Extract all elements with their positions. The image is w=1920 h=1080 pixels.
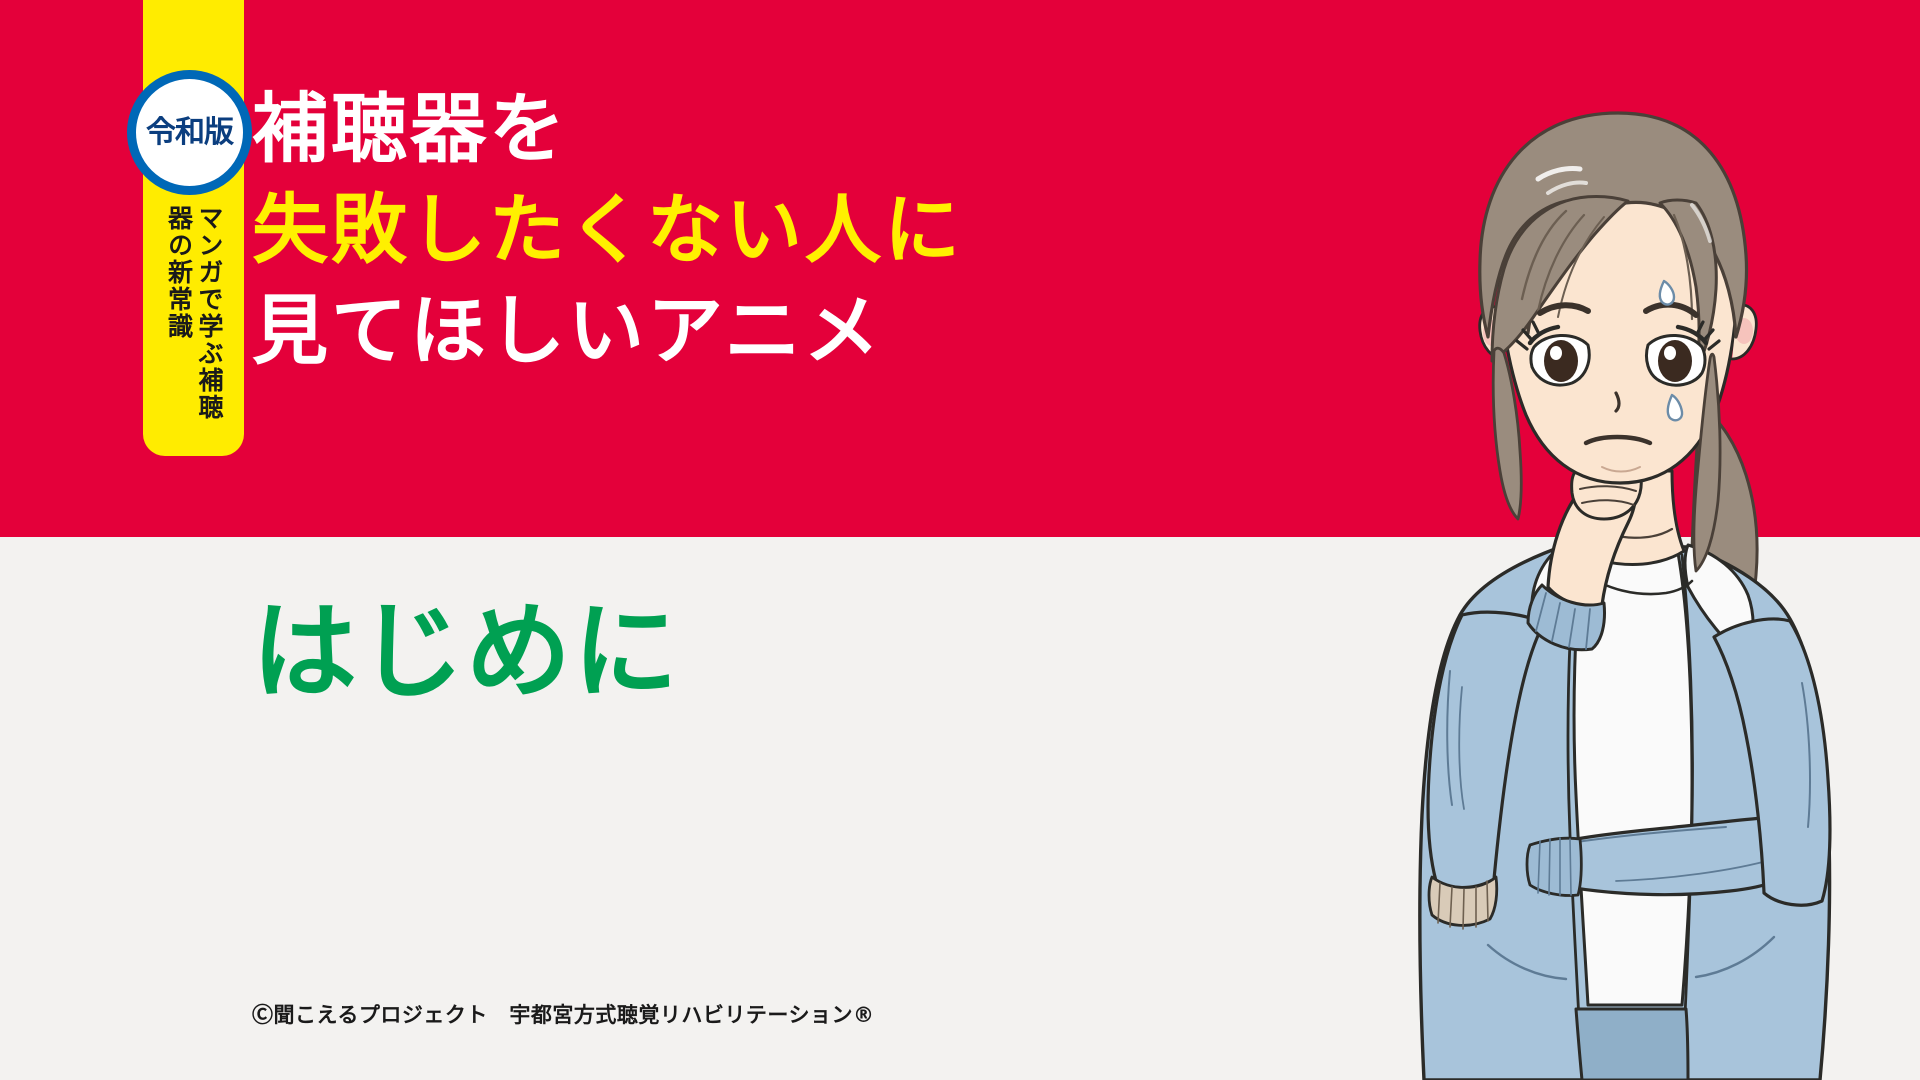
badge-vertical-label: マンガで学ぶ補聴器の新常識 [143,205,244,455]
headline: 補聴器を 失敗したくない人に 見てほしいアニメ [252,78,963,381]
section-heading: はじめに [252,600,680,705]
headline-line-1: 補聴器を [252,78,963,179]
copyright-notice: Ⓒ聞こえるプロジェクト 宇都宮方式聴覚リハビリテーション® [252,1003,874,1028]
slide-root: マンガで学ぶ補聴器の新常識 令和版 補聴器を 失敗したくない人に 見てほしいアニ… [0,0,1920,1080]
worried-woman-illustration [1370,75,1890,1080]
headline-line-2: 失敗したくない人に [252,179,963,280]
reiwa-edition-badge: 令和版 [127,70,252,195]
reiwa-edition-badge-label: 令和版 [146,118,233,148]
badge-vertical-label-text: マンガで学ぶ補聴器の新常識 [163,205,224,445]
headline-line-3: 見てほしいアニメ [252,280,963,381]
